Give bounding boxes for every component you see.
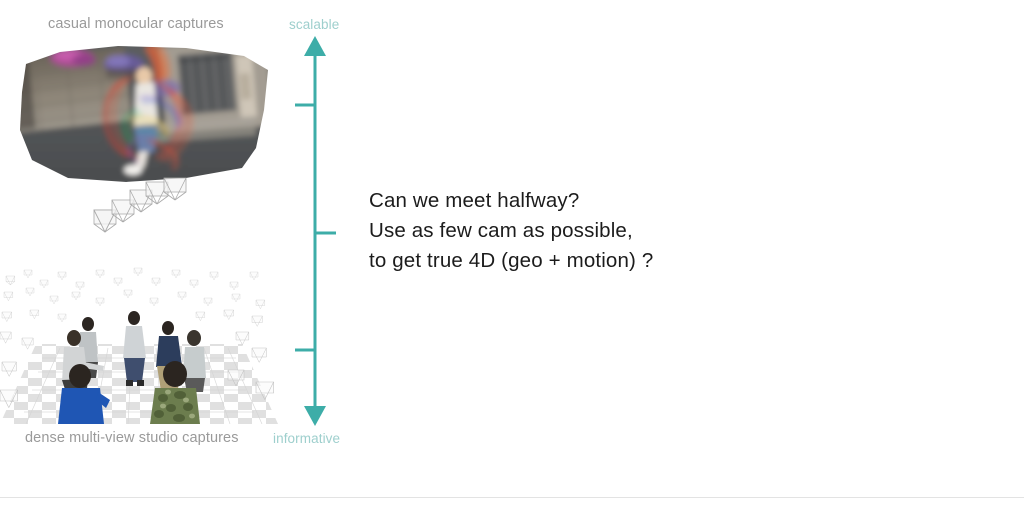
arrow-head-up — [304, 36, 326, 56]
caption-dense-multiview-studio-captures: dense multi-view studio captures — [25, 430, 239, 446]
question-line-3: to get true 4D (geo + motion) ? — [369, 246, 769, 276]
footer-divider — [0, 497, 1024, 498]
question-line-1: Can we meet halfway? — [369, 186, 769, 216]
scalable-informative-axis — [288, 36, 348, 426]
axis-label-scalable: scalable — [289, 17, 339, 32]
monocular-pointcloud-figure — [6, 36, 276, 186]
camera-frustum-row-figure — [92, 176, 202, 242]
question-text-block: Can we meet halfway? Use as few cam as p… — [369, 186, 769, 276]
caption-casual-monocular-captures: casual monocular captures — [48, 16, 224, 32]
multiview-studio-figure — [0, 266, 278, 424]
arrow-head-down — [304, 406, 326, 426]
slide-canvas: casual monocular captures scalable — [0, 0, 1024, 505]
axis-label-informative: informative — [273, 431, 340, 446]
question-line-2: Use as few cam as possible, — [369, 216, 769, 246]
